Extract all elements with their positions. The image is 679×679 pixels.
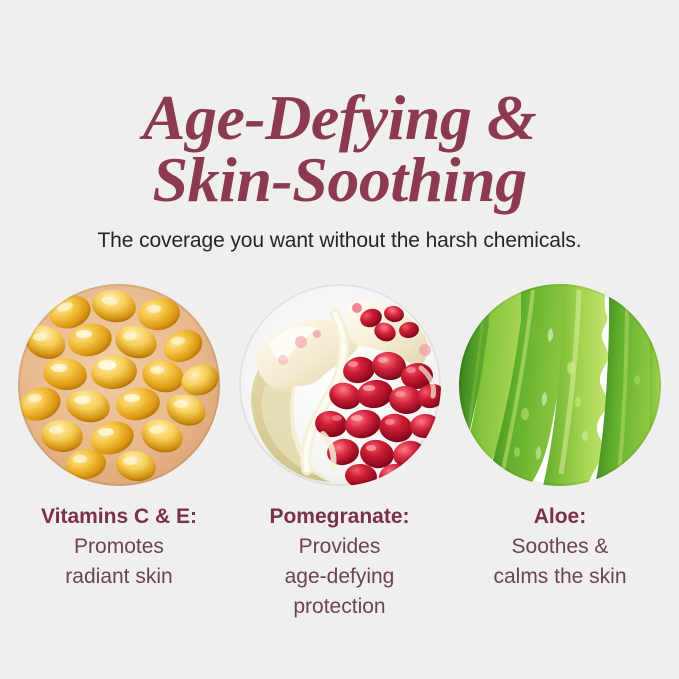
ingredient-title: Pomegranate:: [269, 502, 409, 532]
ingredient-body-line: Promotes: [41, 532, 197, 562]
page-title: Age-Defying & Skin-Soothing: [0, 87, 679, 211]
ingredient-caption-pomegranate: Pomegranate: Provides age-defying protec…: [269, 502, 409, 622]
infographic-poster: Age-Defying & Skin-Soothing The coverage…: [0, 0, 679, 679]
pomegranate-photo: [239, 284, 441, 486]
ingredient-body-line: radiant skin: [41, 562, 197, 592]
ingredient-caption-vitamins: Vitamins C & E: Promotes radiant skin: [41, 502, 197, 592]
ingredient-columns: Vitamins C & E: Promotes radiant skin: [0, 284, 679, 622]
ingredient-caption-aloe: Aloe: Soothes & calms the skin: [493, 502, 626, 592]
ingredient-body-line: age-defying: [269, 562, 409, 592]
ingredient-body-line: protection: [269, 592, 409, 622]
ingredient-body-line: calms the skin: [493, 562, 626, 592]
ingredient-column-pomegranate: Pomegranate: Provides age-defying protec…: [239, 284, 441, 622]
aloe-vera-leaves-photo: [459, 284, 661, 486]
vitamin-softgel-capsules-photo: [18, 284, 220, 486]
ingredient-title: Vitamins C & E:: [41, 502, 197, 532]
ingredient-body-line: Provides: [269, 532, 409, 562]
ingredient-column-aloe: Aloe: Soothes & calms the skin: [459, 284, 661, 622]
subtitle: The coverage you want without the harsh …: [0, 229, 679, 253]
ingredient-column-vitamins: Vitamins C & E: Promotes radiant skin: [18, 284, 220, 622]
ingredient-title: Aloe:: [493, 502, 626, 532]
ingredient-body-line: Soothes &: [493, 532, 626, 562]
headline-line-2: Skin-Soothing: [0, 149, 679, 211]
headline-line-1: Age-Defying &: [0, 87, 679, 149]
